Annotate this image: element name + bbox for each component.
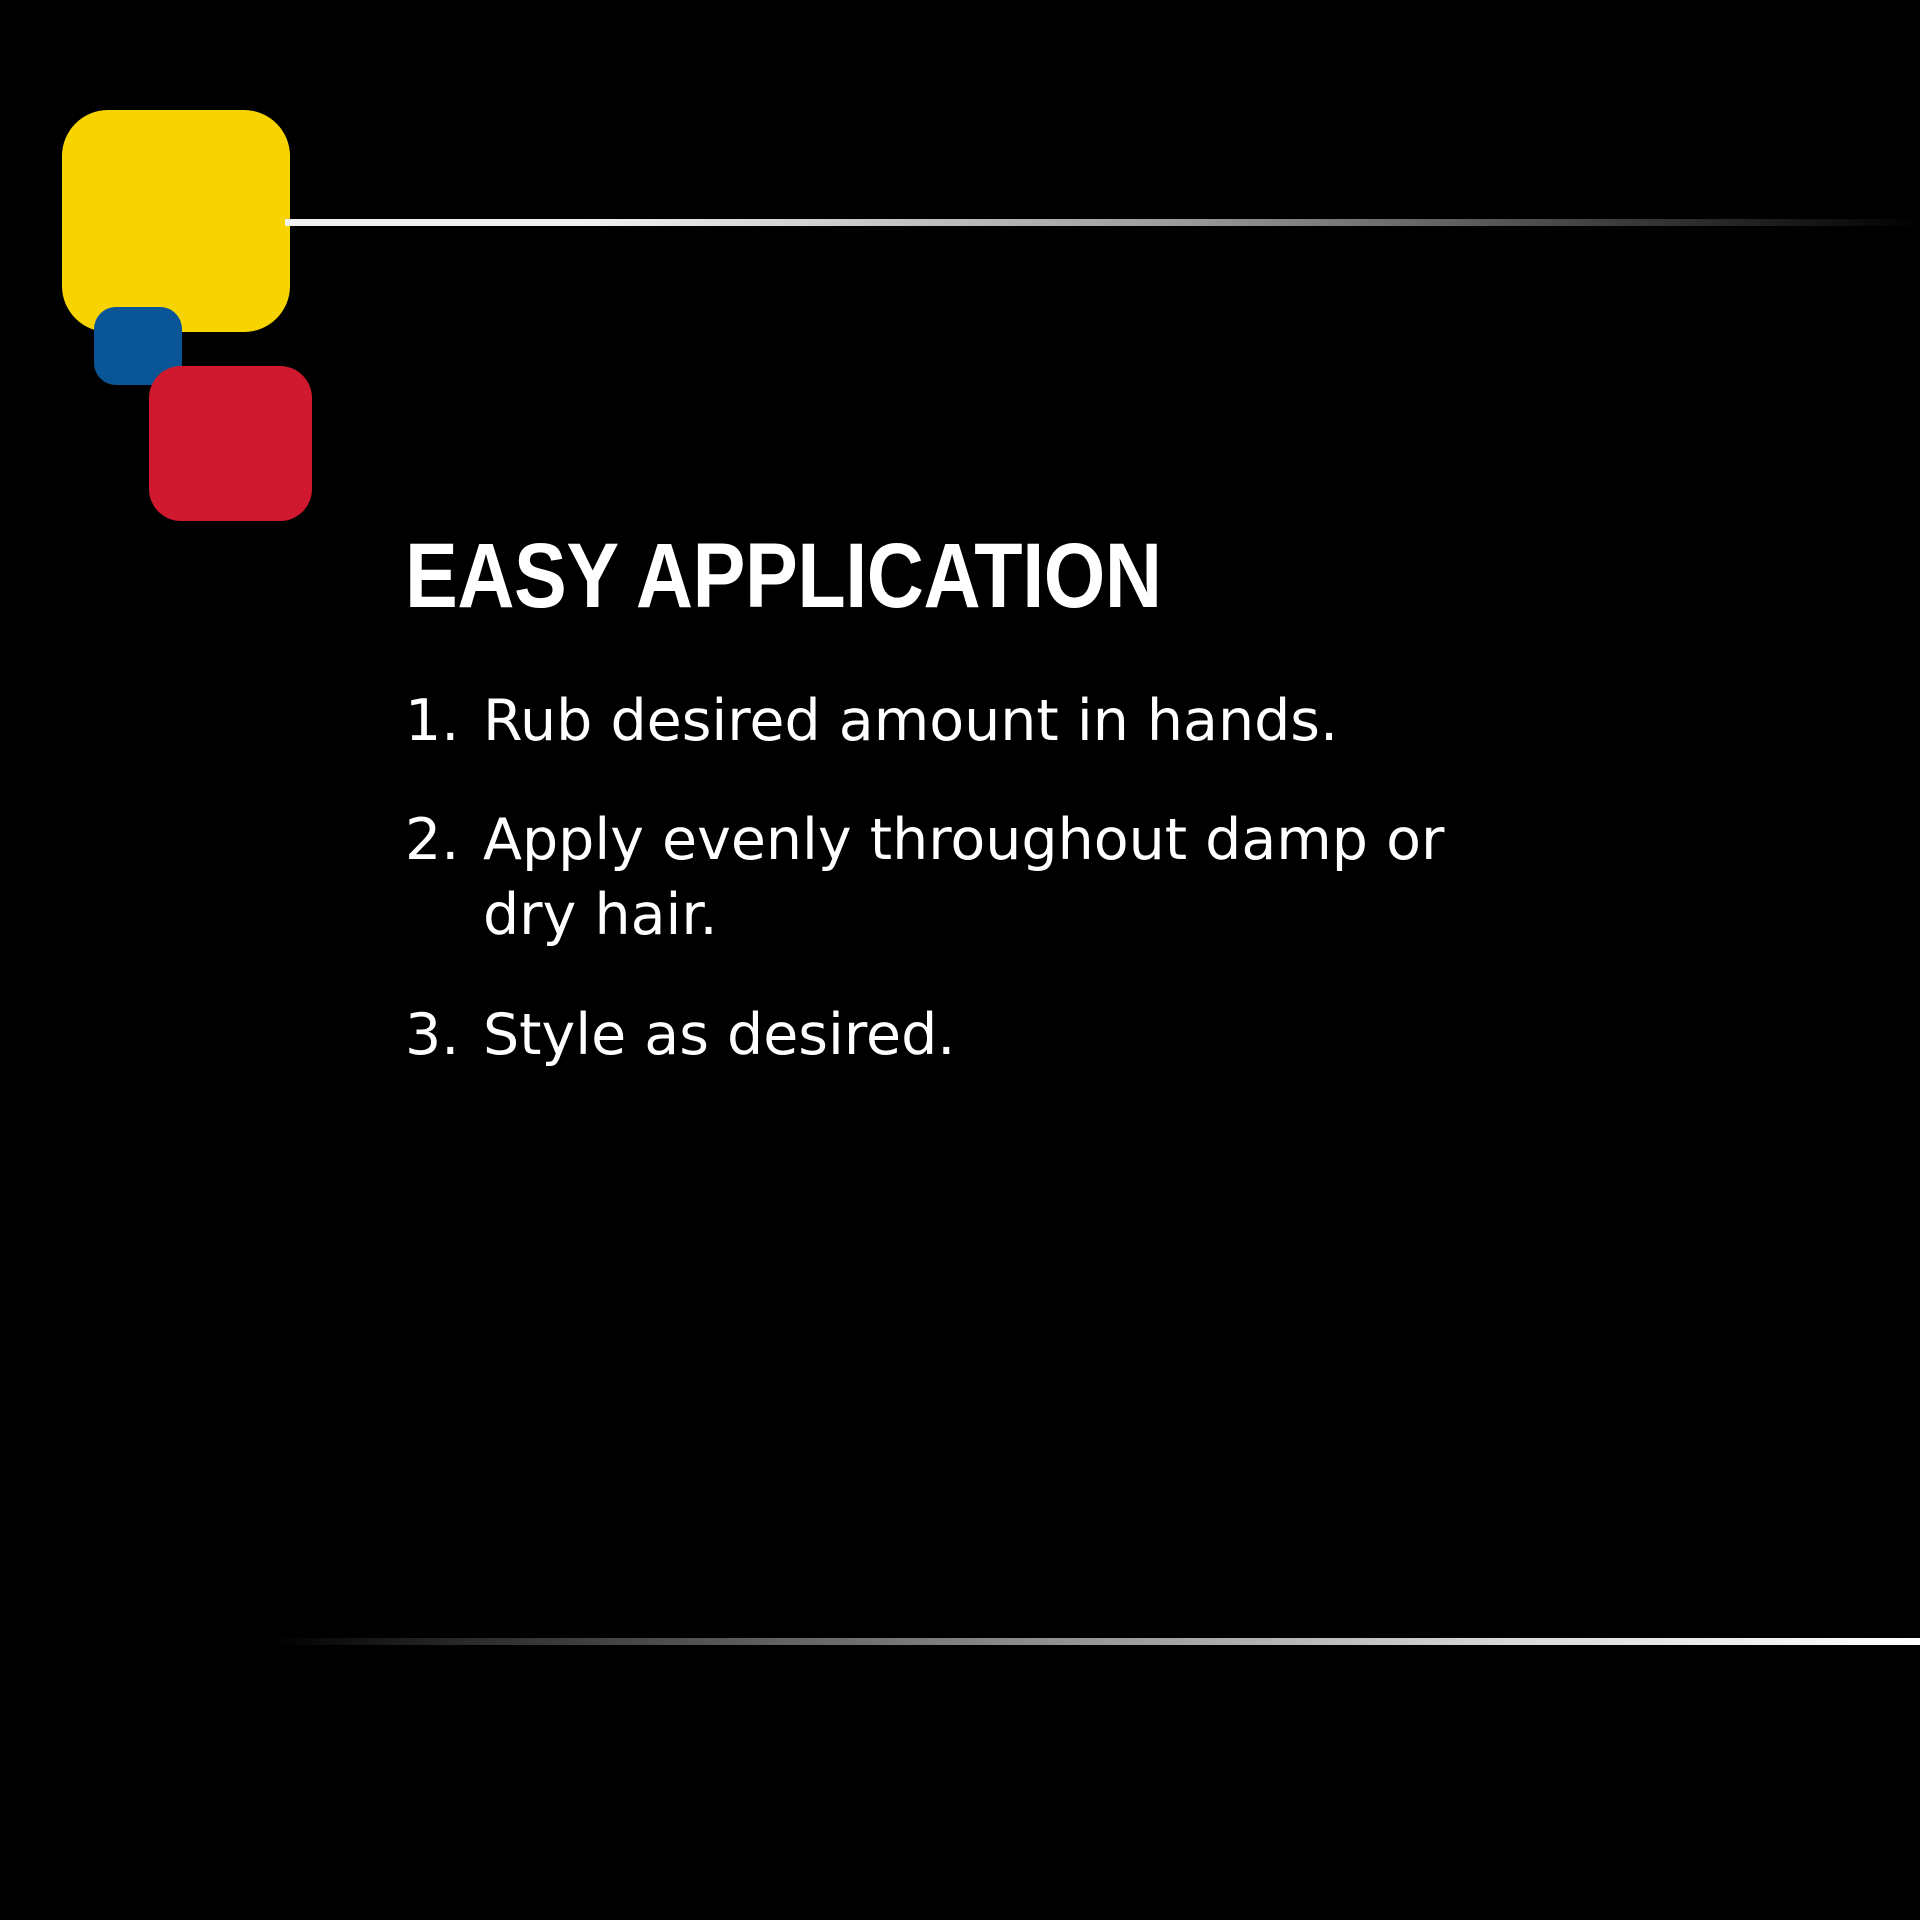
page-title: EASY APPLICATION	[405, 530, 1626, 622]
list-item: 3. Style as desired.	[405, 998, 1825, 1073]
application-steps-list: 1. Rub desired amount in hands. 2. Apply…	[405, 684, 1825, 1073]
step-text: Apply evenly throughout damp or dry hair…	[483, 803, 1513, 953]
step-text: Rub desired amount in hands.	[483, 684, 1513, 759]
step-number: 2.	[405, 803, 483, 878]
content-block: EASY APPLICATION 1. Rub desired amount i…	[405, 530, 1825, 1073]
list-item: 1. Rub desired amount in hands.	[405, 684, 1825, 759]
step-number: 3.	[405, 998, 483, 1073]
yellow-square-icon	[62, 110, 290, 332]
list-item: 2. Apply evenly throughout damp or dry h…	[405, 803, 1825, 953]
step-number: 1.	[405, 684, 483, 759]
top-divider-rule	[285, 219, 1920, 226]
step-text: Style as desired.	[483, 998, 1513, 1073]
product-instruction-slide: EASY APPLICATION 1. Rub desired amount i…	[0, 0, 1920, 1920]
three-square-logo-mark	[0, 0, 420, 560]
red-square-icon	[149, 366, 312, 521]
bottom-divider-rule	[270, 1638, 1920, 1645]
